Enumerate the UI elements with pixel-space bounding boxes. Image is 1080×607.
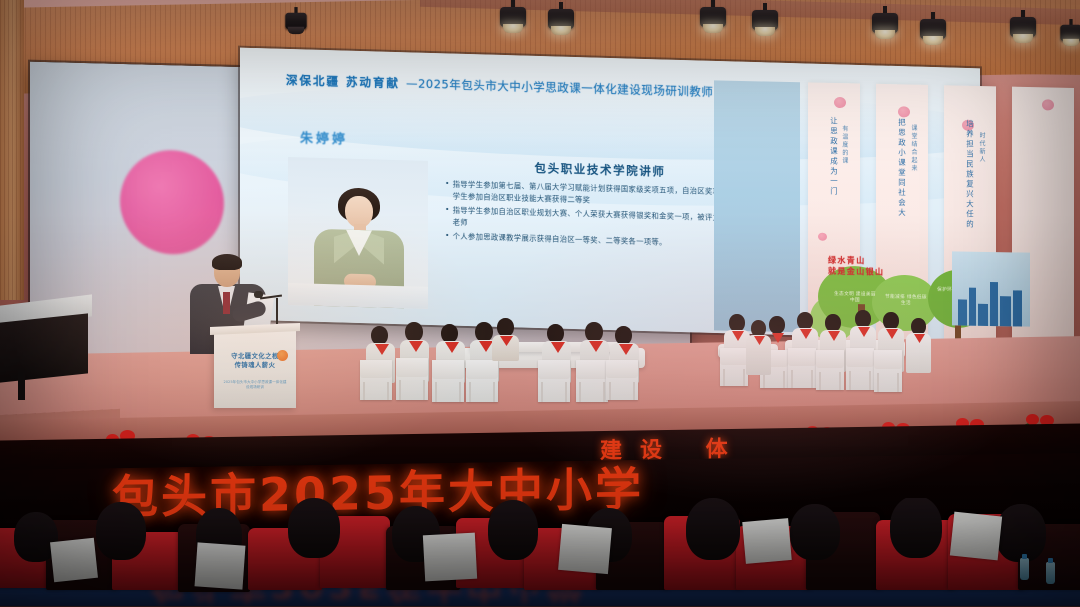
audience-head xyxy=(488,500,538,560)
student-figure xyxy=(492,318,520,360)
tree-slogan-line2: 就是金山银山 xyxy=(828,266,884,278)
spotlight-icon xyxy=(285,7,306,35)
tree-leaf-label: 生态文明 建设美丽中国 xyxy=(832,292,878,305)
spotlight-icon xyxy=(752,3,778,37)
audience-handout-paper xyxy=(950,512,1002,561)
folding-chair xyxy=(846,348,874,390)
audience-head xyxy=(686,498,740,560)
audience-head xyxy=(790,504,840,560)
wall-banner-subtext: 课堂结合起来 xyxy=(909,125,918,173)
wall-banner-subtext: 有温度的课 xyxy=(840,125,849,165)
spotlight-icon xyxy=(1060,19,1080,47)
speaker-tie xyxy=(223,292,230,314)
audience-head xyxy=(288,498,340,558)
folding-chair xyxy=(396,358,428,400)
wall-banner-text: 让思政课成为一门 xyxy=(829,117,840,197)
speaking-podium: 守北疆文化之根 传铸魂人薪火 2025年包头市大中小学思政课一体化建设现场研训 xyxy=(214,330,296,408)
water-bottle xyxy=(1020,558,1029,580)
folding-chair xyxy=(720,348,748,386)
spotlight-icon xyxy=(500,0,526,34)
spotlight-icon xyxy=(920,12,946,46)
side-blue-screen xyxy=(714,80,800,332)
audience-handout-paper xyxy=(558,524,612,574)
folding-chair xyxy=(576,360,608,402)
bullet-icon: • xyxy=(445,204,450,228)
slide-speaker-name: 朱婷婷 xyxy=(300,127,348,147)
spotlight-icon xyxy=(700,0,726,34)
audience-head xyxy=(96,502,146,560)
student-figure xyxy=(746,320,772,378)
student-figure xyxy=(906,318,932,376)
water-bottle xyxy=(1046,562,1055,584)
folding-chair xyxy=(538,360,570,402)
grand-piano xyxy=(0,300,96,398)
spotlight-icon xyxy=(548,2,574,36)
folding-chair xyxy=(788,348,816,388)
audience-handout-paper xyxy=(50,538,98,582)
wall-banner-subtext: 时代新人 xyxy=(977,132,986,164)
bullet-icon: • xyxy=(445,231,450,243)
audience-head xyxy=(996,504,1046,562)
tree-leaf-label: 节能减排 绿色低碳生活 xyxy=(884,295,928,308)
flame-logo-icon xyxy=(277,350,288,361)
audience-head xyxy=(890,498,942,558)
speaker-hair xyxy=(212,254,242,270)
folding-chair xyxy=(466,360,498,402)
audience-area xyxy=(0,498,1080,607)
folding-chair xyxy=(816,350,844,390)
podium-speaker-group: 守北疆文化之根 传铸魂人薪火 2025年包头市大中小学思政课一体化建设现场研训 xyxy=(178,252,308,402)
auditorium-scene-photo: 深保北疆 苏动育献—2025年包头市大中小学思政课一体化建设现场研训教师 朱婷婷… xyxy=(0,0,1080,607)
wall-banner-text: 把思政小课堂同社会大 xyxy=(897,118,908,218)
spotlight-icon xyxy=(872,6,898,40)
audience-handout-paper xyxy=(742,518,791,564)
audience-handout-paper xyxy=(423,533,477,582)
spotlight-icon xyxy=(1010,10,1036,44)
speaker-portrait-photo xyxy=(288,157,428,309)
wood-pilaster-left xyxy=(0,0,24,300)
audience-handout-paper xyxy=(195,542,246,589)
folding-chair xyxy=(606,360,638,400)
portrait-desk xyxy=(288,283,428,309)
wall-banner-text: 培养担当民族复兴大任的 xyxy=(965,120,976,230)
tree-slogan: 绿水青山 就是金山银山 xyxy=(828,256,884,279)
folding-chair xyxy=(874,350,902,392)
podium-headline-line2: 传铸魂人薪火 xyxy=(221,361,289,370)
bullet-icon: • xyxy=(445,178,450,202)
folding-chair xyxy=(360,360,392,400)
city-skyline-graphic xyxy=(952,251,1030,326)
folding-chair xyxy=(432,360,464,402)
slide-title-headline: 深保北疆 苏动育献 xyxy=(286,73,400,90)
tree-slogan-line1: 绿水青山 xyxy=(828,256,884,268)
podium-subline: 2025年包头市大中小学思政课一体化建设现场研训 xyxy=(223,380,287,390)
